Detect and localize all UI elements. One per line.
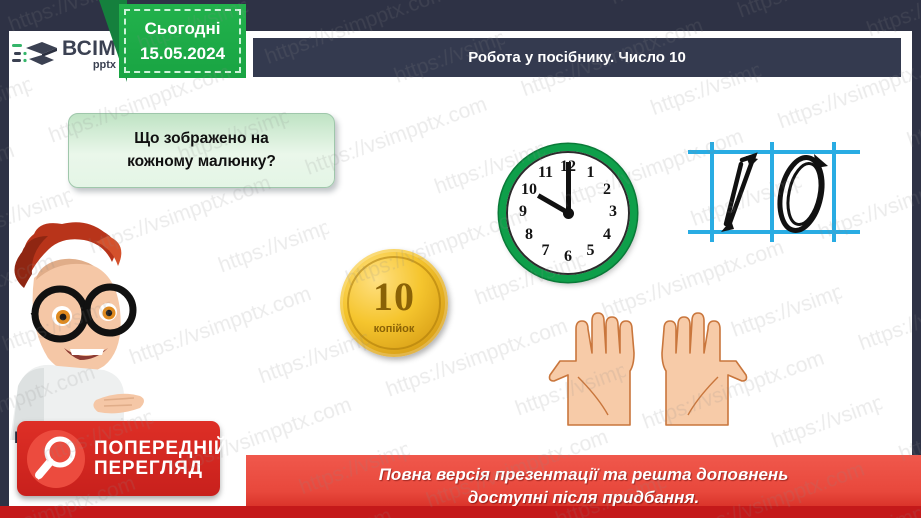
question-bubble: Що зображено на кожному малюнку? <box>68 113 335 188</box>
page-title: Робота у посібнику. Число 10 <box>468 49 686 66</box>
banner-line-1: Повна версія презентації та решта доповн… <box>379 464 789 487</box>
coin-denomination-label: копійок <box>340 323 448 335</box>
clock-image: 121234567891011 <box>499 144 637 282</box>
coin-value: 10 <box>340 273 448 320</box>
slide-right-edge <box>912 0 921 518</box>
clock-minute-hand <box>566 162 571 213</box>
coin-image: 10 копійок <box>340 249 448 357</box>
clock-numeral: 2 <box>597 181 617 199</box>
today-date: 15.05.2024 <box>140 41 225 67</box>
banner-bottom-strip <box>0 506 921 518</box>
clock-numeral: 9 <box>513 203 533 221</box>
clock-numeral: 11 <box>536 164 556 182</box>
preview-label-2: ПЕРЕГЛЯД <box>94 459 228 479</box>
magnifier-icon <box>27 430 85 488</box>
today-badge: Сьогодні 15.05.2024 <box>99 0 247 82</box>
clock-numeral: 1 <box>581 164 601 182</box>
slide-title-bar: Робота у посібнику. Число 10 <box>253 38 901 77</box>
clock-numeral: 3 <box>603 203 623 221</box>
clock-numeral: 6 <box>558 248 578 266</box>
handwriting-guide-image <box>688 142 860 242</box>
today-label: Сьогодні <box>145 16 221 42</box>
presentation-slide: ВСІМ pptx Сьогодні 15.05.2024 Робота у п… <box>0 0 921 518</box>
preview-label-1: ПОПЕРЕДНІЙ <box>94 439 228 459</box>
question-line-1: Що зображено на <box>134 128 269 150</box>
hands-image <box>548 305 748 437</box>
question-line-2: кожному малюнку? <box>127 151 276 173</box>
clock-numeral: 10 <box>519 181 539 199</box>
preview-badge[interactable]: ПОПЕРЕДНІЙ ПЕРЕГЛЯД <box>17 421 220 496</box>
clock-center-pin <box>563 208 574 219</box>
clock-numeral: 7 <box>536 242 556 260</box>
clock-numeral: 8 <box>519 226 539 244</box>
cartoon-boy-character <box>0 218 148 440</box>
graduation-cap-icon <box>12 35 58 75</box>
clock-numeral: 4 <box>597 226 617 244</box>
clock-numeral: 5 <box>581 242 601 260</box>
